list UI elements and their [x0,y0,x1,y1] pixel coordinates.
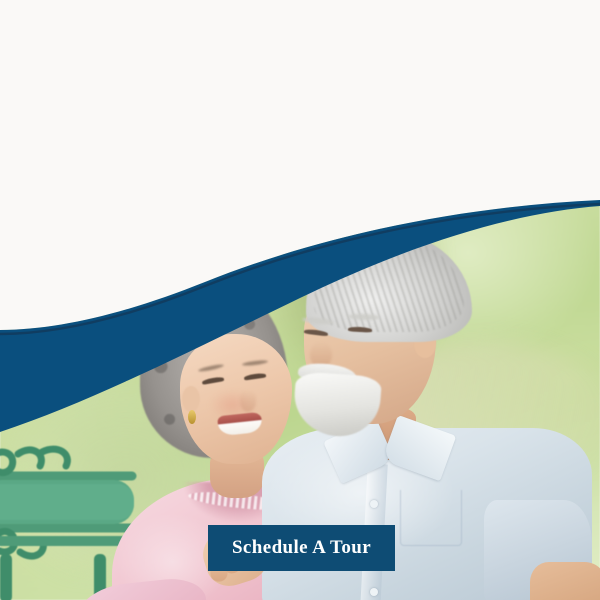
brand-lockup[interactable]: TerraBella ® SUMMIT [0,18,600,92]
man-shirt-pocket [400,490,462,546]
man-shirt-button [370,500,378,508]
wordmark-terrabella: TerraBella ® [239,18,419,70]
svg-text:®: ® [407,31,413,40]
svg-text:TerraBella: TerraBella [239,20,406,65]
promo-page: TerraBella ® SUMMIT Affordable, Person-C… [0,0,600,600]
man-forearm [530,562,600,600]
header: TerraBella ® SUMMIT Affordable, Person-C… [0,0,600,205]
sub-brand-summit: SUMMIT [231,69,369,92]
schedule-a-tour-button[interactable]: Schedule A Tour [208,525,395,571]
page-title: Affordable, Person-Centered Senior Livin… [0,104,600,134]
man-shirt-button [370,588,378,596]
woman-arm [74,575,211,600]
subtext-line-2: which create a lasting foundation for su… [0,171,600,194]
hero-subtext: Our community proudly offers a range of … [0,148,600,194]
sun-landscape-circle-icon [182,20,230,68]
subtext-line-1: Our community proudly offers a range of … [0,148,600,171]
